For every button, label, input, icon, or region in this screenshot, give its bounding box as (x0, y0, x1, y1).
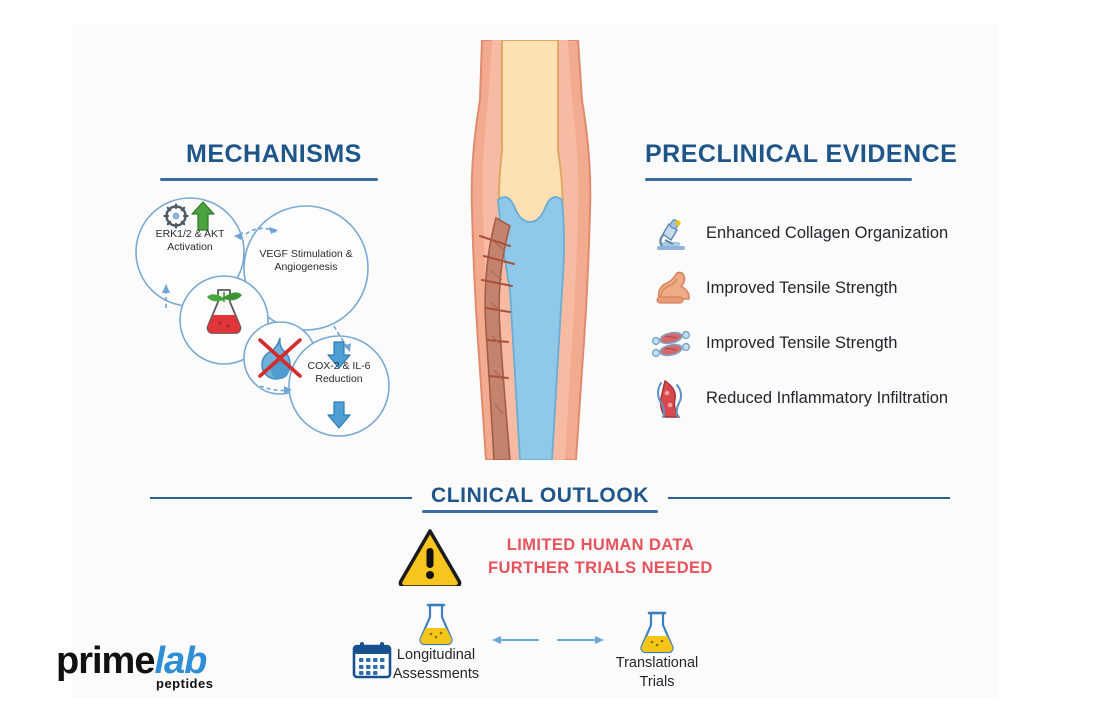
warning-row: LIMITED HUMAN DATA FURTHER TRIALS NEEDED (398, 528, 713, 586)
mechanism-label-vegf: VEGF Stimulation & Angiogenesis (246, 248, 366, 274)
preclinical-item-tensile: Improved Tensile Strength (648, 261, 1018, 316)
muscle-fibers-icon (648, 321, 694, 367)
flask-icon (416, 602, 456, 646)
microscope-icon (648, 211, 694, 257)
logo-prime-text: prime (56, 640, 154, 682)
gear-icon (165, 205, 188, 228)
mechanisms-title: MECHANISMS (186, 140, 362, 169)
logo-subtitle: peptides (156, 676, 213, 691)
mechanisms-rule (160, 178, 378, 181)
infographic-canvas: MECHANISMS (0, 0, 1100, 722)
tendon-svg (440, 40, 620, 460)
clinical-outlook-title: CLINICAL OUTLOOK (422, 484, 658, 508)
preclinical-item-collagen: Enhanced Collagen Organization (648, 206, 1018, 261)
outlook-node-longitudinal: Longitudinal Assessments (346, 602, 526, 684)
mechanisms-diagram: ERK1/2 & AKT Activation VEGF Stimulation… (128, 190, 418, 440)
outlook-label: Longitudinal Assessments (346, 646, 526, 684)
preclinical-list: Enhanced Collagen Organization Improved … (648, 206, 1018, 426)
preclinical-label: Improved Tensile Strength (706, 334, 897, 353)
clinical-outlook-nodes: Longitudinal Assessments Translational T… (330, 600, 750, 700)
flexed-biceps-icon (648, 266, 694, 312)
clinical-outlook-header: CLINICAL OUTLOOK (150, 482, 950, 522)
mechanism-label-cox: COX-2 & IL-6 Reduction (286, 360, 392, 386)
outlook-label: Translational Trials (572, 654, 742, 692)
warning-text: LIMITED HUMAN DATA FURTHER TRIALS NEEDED (488, 534, 713, 580)
warning-triangle-icon (398, 528, 462, 586)
outlook-node-translational: Translational Trials (572, 610, 742, 692)
clinical-rule-left (150, 497, 412, 499)
preclinical-rule (645, 178, 912, 181)
mechanism-label-erk: ERK1/2 & AKT Activation (134, 228, 246, 254)
preclinical-label: Improved Tensile Strength (706, 279, 897, 298)
brand-logo: primelab peptides (56, 640, 246, 698)
flask-icon (637, 610, 677, 654)
clinical-underline (422, 510, 658, 513)
tendon-illustration (440, 40, 620, 460)
preclinical-label: Reduced Inflammatory Infiltration (706, 389, 948, 408)
clinical-rule-right (668, 497, 950, 499)
preclinical-title: PRECLINICAL EVIDENCE (645, 140, 957, 169)
preclinical-label: Enhanced Collagen Organization (706, 224, 948, 243)
preclinical-item-inflammation: Reduced Inflammatory Infiltration (648, 371, 1018, 426)
preclinical-item-fibers: Improved Tensile Strength (648, 316, 1018, 371)
inflamed-tissue-icon (648, 376, 694, 422)
